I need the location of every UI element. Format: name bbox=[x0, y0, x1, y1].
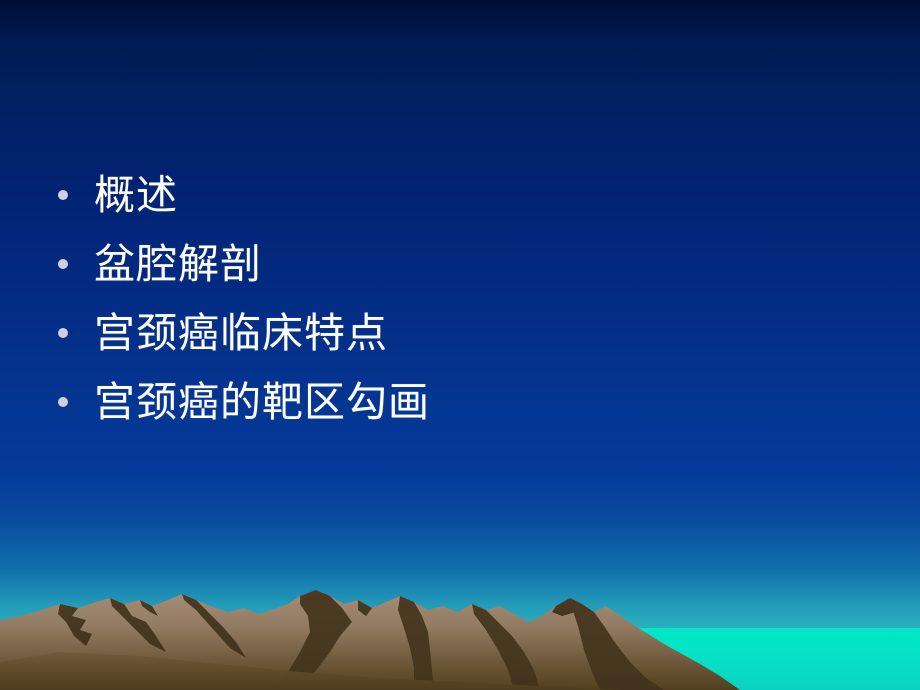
bullet-item-label: 宫颈癌临床特点 bbox=[94, 310, 388, 356]
mountain-range-graphic bbox=[0, 560, 920, 690]
bullet-item-label: 宫颈癌的靶区勾画 bbox=[94, 379, 430, 425]
list-item[interactable]: 宫颈癌临床特点 bbox=[52, 298, 692, 367]
bullet-item-label: 盆腔解剖 bbox=[94, 241, 262, 287]
list-item[interactable]: 概述 bbox=[52, 160, 692, 229]
bullet-dot-icon bbox=[58, 259, 68, 269]
bullet-dot-icon bbox=[58, 190, 68, 200]
list-item[interactable]: 宫颈癌的靶区勾画 bbox=[52, 367, 692, 436]
bullet-dot-icon bbox=[58, 397, 68, 407]
list-item[interactable]: 盆腔解剖 bbox=[52, 229, 692, 298]
bullet-item-label: 概述 bbox=[94, 172, 178, 218]
bullet-dot-icon bbox=[58, 328, 68, 338]
bullet-list: 概述 盆腔解剖 宫颈癌临床特点 宫颈癌的靶区勾画 bbox=[52, 160, 692, 436]
slide-canvas: 概述 盆腔解剖 宫颈癌临床特点 宫颈癌的靶区勾画 bbox=[0, 0, 920, 690]
